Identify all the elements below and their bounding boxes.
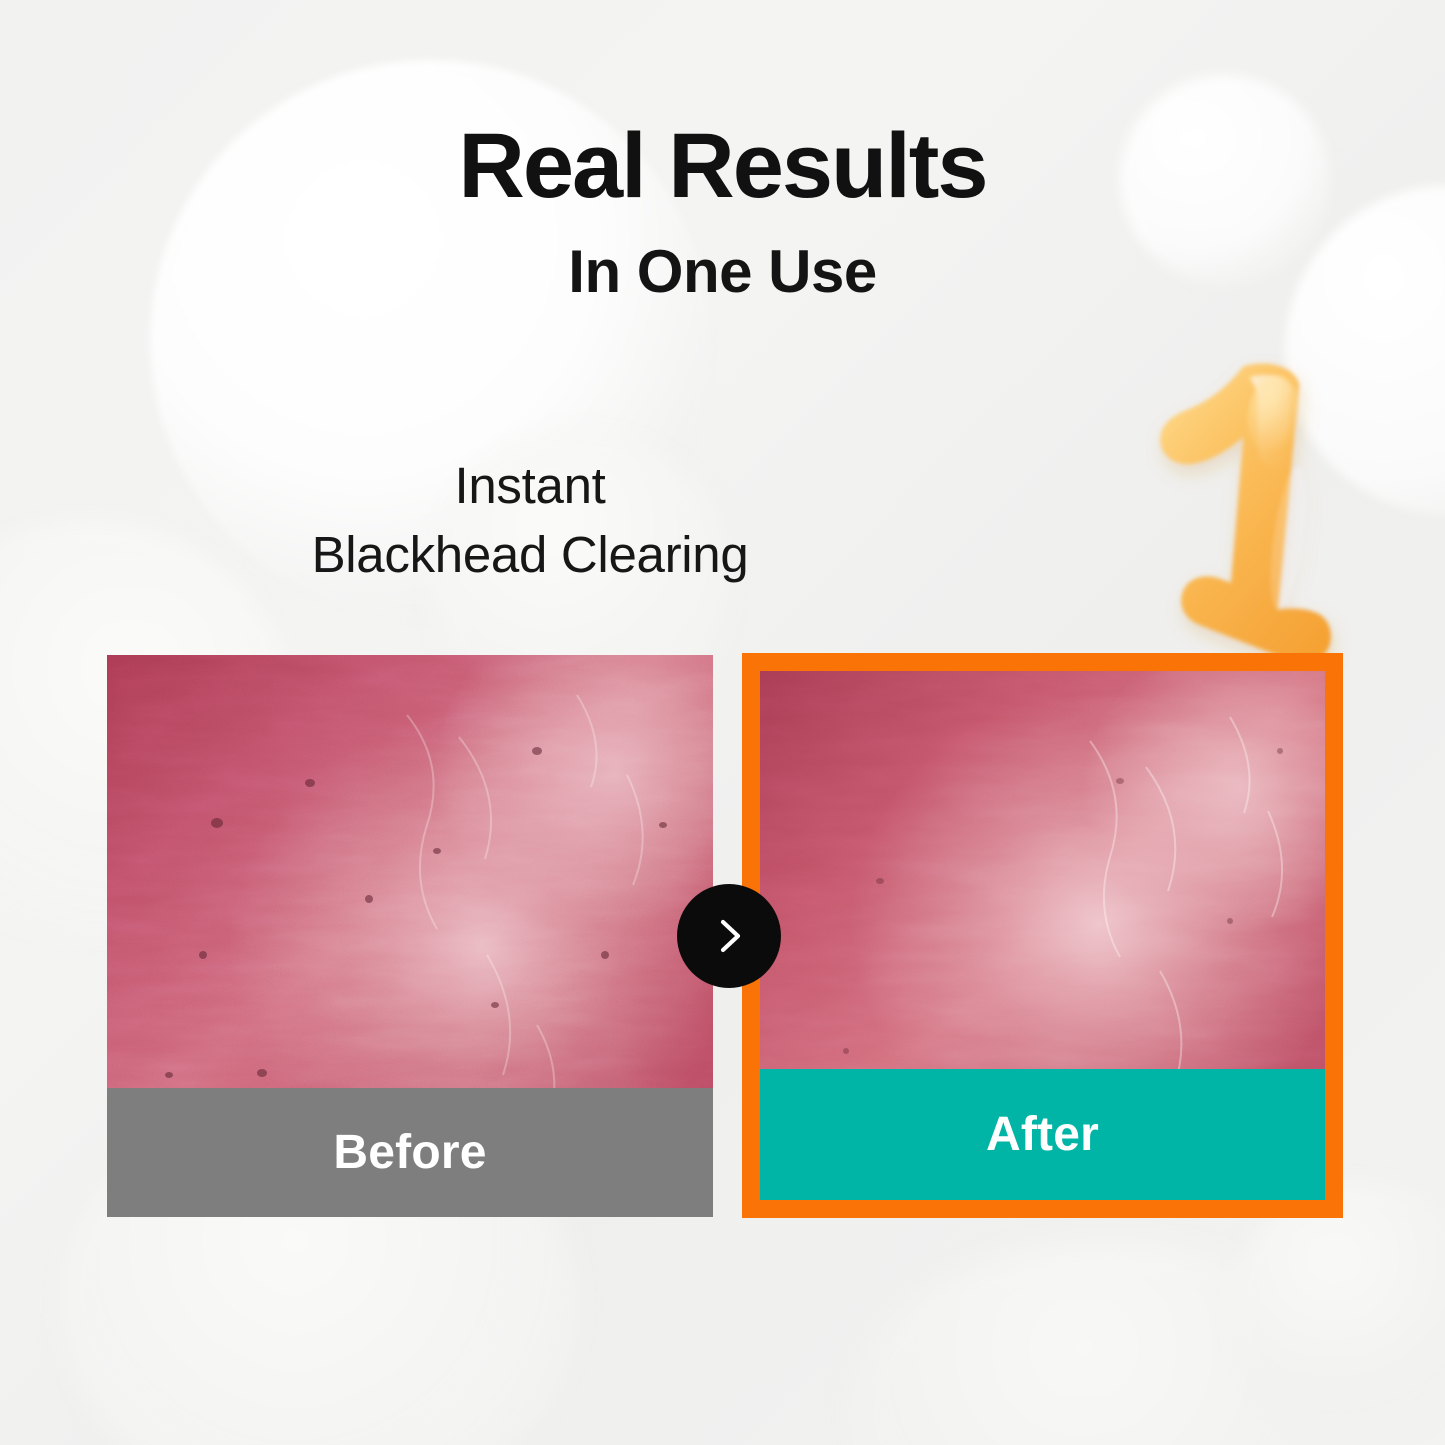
number-one-badge-icon: [1095, 352, 1395, 672]
benefit-line-1: Instant: [0, 452, 1060, 521]
benefit-block: Instant Blackhead Clearing: [0, 452, 1060, 590]
promo-poster: Real Results In One Use Instant Blackhea…: [0, 0, 1445, 1445]
after-panel: After: [760, 671, 1325, 1200]
headline-block: Real Results In One Use: [0, 118, 1445, 305]
before-label: Before: [333, 1125, 486, 1180]
after-label-bar: After: [760, 1069, 1325, 1200]
page-title: Real Results: [0, 118, 1445, 215]
comparison-arrow-badge: [677, 884, 781, 988]
after-panel-frame: After: [742, 653, 1343, 1218]
after-label: After: [986, 1107, 1099, 1162]
benefit-line-2: Blackhead Clearing: [0, 521, 1060, 590]
background-bubble-icon: [1230, 1180, 1445, 1440]
page-subtitle: In One Use: [0, 239, 1445, 305]
before-label-bar: Before: [107, 1088, 713, 1217]
background-bubble-icon: [850, 1240, 1370, 1445]
before-panel: Before: [107, 655, 713, 1217]
chevron-right-icon: [707, 914, 751, 958]
